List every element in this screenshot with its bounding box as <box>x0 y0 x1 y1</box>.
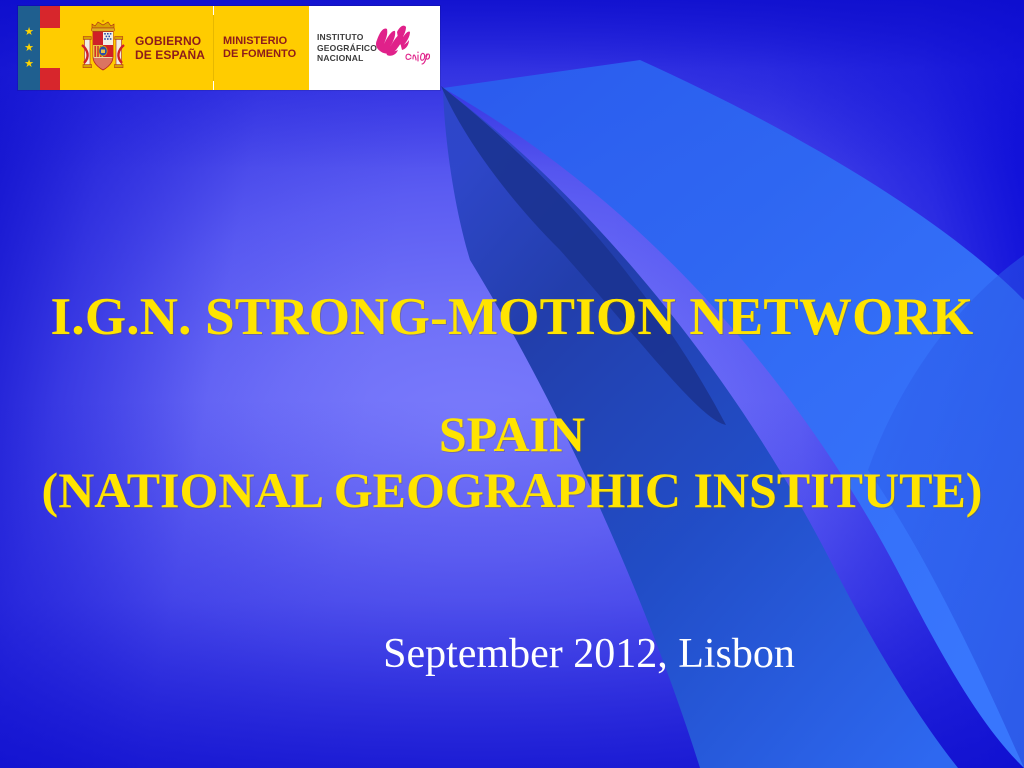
eu-star-icon: ★ <box>24 60 34 69</box>
flag-red-stripe-top <box>40 6 60 28</box>
eu-star-icon: ★ <box>24 44 34 53</box>
logo-gobierno-de-espana: ★ ★ ★ <box>18 6 213 90</box>
ministerio-line-2: DE FOMENTO <box>223 48 296 61</box>
ministerio-line-1: MINISTERIO <box>223 35 296 48</box>
gobierno-line-2: DE ESPAÑA <box>135 48 205 62</box>
logo-ministerio-de-fomento: MINISTERIO DE FOMENTO <box>214 6 309 90</box>
ign-line-1: INSTITUTO <box>317 32 377 43</box>
gobierno-label: GOBIERNO DE ESPAÑA <box>135 34 205 62</box>
ministerio-label: MINISTERIO DE FOMENTO <box>223 35 296 61</box>
slide-date-location: September 2012, Lisbon <box>0 630 1024 678</box>
slide-subtitle-country: SPAIN <box>0 405 1024 463</box>
spain-flag-strip: ★ ★ ★ <box>18 6 78 90</box>
gobierno-line-1: GOBIERNO <box>135 34 205 48</box>
institutional-logo-bar: ★ ★ ★ <box>18 6 440 90</box>
ign-line-3: NACIONAL <box>317 53 377 64</box>
slide-title: I.G.N. STRONG-MOTION NETWORK <box>0 287 1024 347</box>
logo-instituto-geografico-nacional: INSTITUTO GEOGRÁFICO NACIONAL <box>309 6 440 90</box>
eu-stars-band: ★ ★ ★ <box>18 6 40 90</box>
flag-yellow-field <box>60 6 78 90</box>
flag-red-stripe-bottom <box>40 68 60 90</box>
slide-subtitle-institute: (NATIONAL GEOGRAPHIC INSTITUTE) <box>0 461 1024 519</box>
ign-line-2: GEOGRÁFICO <box>317 43 377 54</box>
presentation-slide: ★ ★ ★ <box>0 0 1024 768</box>
cnig-brush-mark-icon <box>371 22 433 68</box>
spain-coat-of-arms-icon <box>80 17 126 79</box>
flag-yellow-stripe <box>40 28 60 68</box>
eu-star-icon: ★ <box>24 28 34 37</box>
ign-label: INSTITUTO GEOGRÁFICO NACIONAL <box>317 32 377 64</box>
